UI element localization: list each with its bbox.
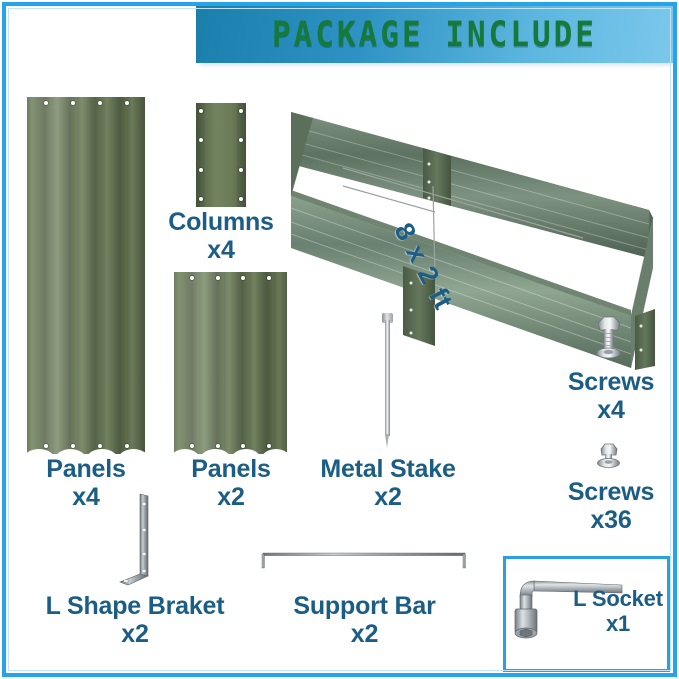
label-qty: x2 bbox=[308, 483, 468, 511]
support-bar-shaft bbox=[263, 553, 465, 556]
label-text: Columns bbox=[168, 208, 274, 236]
panel-holes-bottom bbox=[174, 444, 287, 448]
part-panel-tall bbox=[27, 97, 145, 454]
label-text: Panels bbox=[191, 455, 270, 483]
label-qty: x4 bbox=[548, 396, 674, 424]
label-qty: x2 bbox=[5, 620, 265, 648]
label-qty: x1 bbox=[564, 612, 672, 637]
label-text: L Shape Braket bbox=[46, 592, 225, 620]
support-bar-left-end bbox=[262, 554, 264, 568]
package-include-infographic: PACKAGE INCLUDE Panels x4 Columns x4 bbox=[0, 0, 679, 679]
header-banner: PACKAGE INCLUDE bbox=[196, 6, 673, 63]
support-bar-icon bbox=[259, 551, 469, 573]
label-text: Support Bar bbox=[293, 592, 435, 620]
bolt-head bbox=[598, 317, 620, 330]
label-metal-stake-2: Metal Stake x2 bbox=[308, 455, 468, 511]
part-flange-screw bbox=[592, 440, 626, 472]
l-bracket-icon bbox=[108, 492, 166, 588]
column-holes-right bbox=[239, 109, 243, 201]
panel-highlight bbox=[27, 97, 145, 454]
panel-holes-top bbox=[27, 101, 145, 105]
label-support-bar-2: Support Bar x2 bbox=[262, 592, 467, 648]
label-text: Screws bbox=[568, 478, 654, 506]
panel-holes-top bbox=[174, 276, 287, 280]
label-qty: x4 bbox=[145, 236, 297, 264]
part-support-bar bbox=[259, 551, 469, 573]
page-title: PACKAGE INCLUDE bbox=[272, 14, 597, 54]
column-holes-left bbox=[199, 109, 203, 201]
panel-holes-bottom bbox=[27, 444, 145, 448]
part-metal-stake bbox=[381, 310, 393, 448]
bed-corner-post-right bbox=[635, 309, 655, 370]
support-bar-right-end bbox=[463, 554, 465, 568]
label-panels-2: Panels x2 bbox=[155, 455, 307, 511]
panel-highlight bbox=[174, 272, 287, 454]
label-qty: x36 bbox=[548, 506, 674, 534]
label-qty: x2 bbox=[262, 620, 467, 648]
label-columns-4: Columns x4 bbox=[145, 208, 297, 264]
part-panel-short bbox=[174, 272, 287, 454]
socket-hex-bore bbox=[520, 629, 532, 637]
label-screws-36: Screws x36 bbox=[548, 478, 674, 534]
bolt-shank bbox=[604, 329, 613, 350]
label-text: Screws bbox=[568, 368, 654, 396]
label-text: L Socket bbox=[573, 586, 663, 611]
part-l-bracket bbox=[108, 492, 166, 588]
bed-corner-post-back bbox=[423, 148, 451, 206]
bracket-vertical-leg bbox=[140, 494, 148, 576]
screw-icon bbox=[592, 440, 626, 472]
stake-shaft bbox=[385, 320, 390, 436]
label-l-socket-1: L Socket x1 bbox=[564, 587, 672, 636]
label-qty: x2 bbox=[155, 483, 307, 511]
screw-head bbox=[601, 444, 617, 455]
screw-flange-hole bbox=[605, 460, 613, 464]
bolt-washer-hole bbox=[604, 350, 614, 354]
label-screws-4: Screws x4 bbox=[548, 368, 674, 424]
socket-elbow bbox=[520, 581, 534, 597]
l-socket-highlight-box: L Socket x1 bbox=[503, 556, 670, 672]
stake-tip bbox=[385, 434, 389, 448]
part-bolt-with-nut bbox=[588, 312, 628, 364]
label-l-bracket-2: L Shape Braket x2 bbox=[5, 592, 265, 648]
bracket-foot bbox=[120, 574, 148, 585]
bolt-icon bbox=[588, 312, 628, 364]
label-text: Panels bbox=[46, 455, 125, 483]
part-column bbox=[196, 103, 246, 207]
label-text: Metal Stake bbox=[320, 455, 455, 483]
